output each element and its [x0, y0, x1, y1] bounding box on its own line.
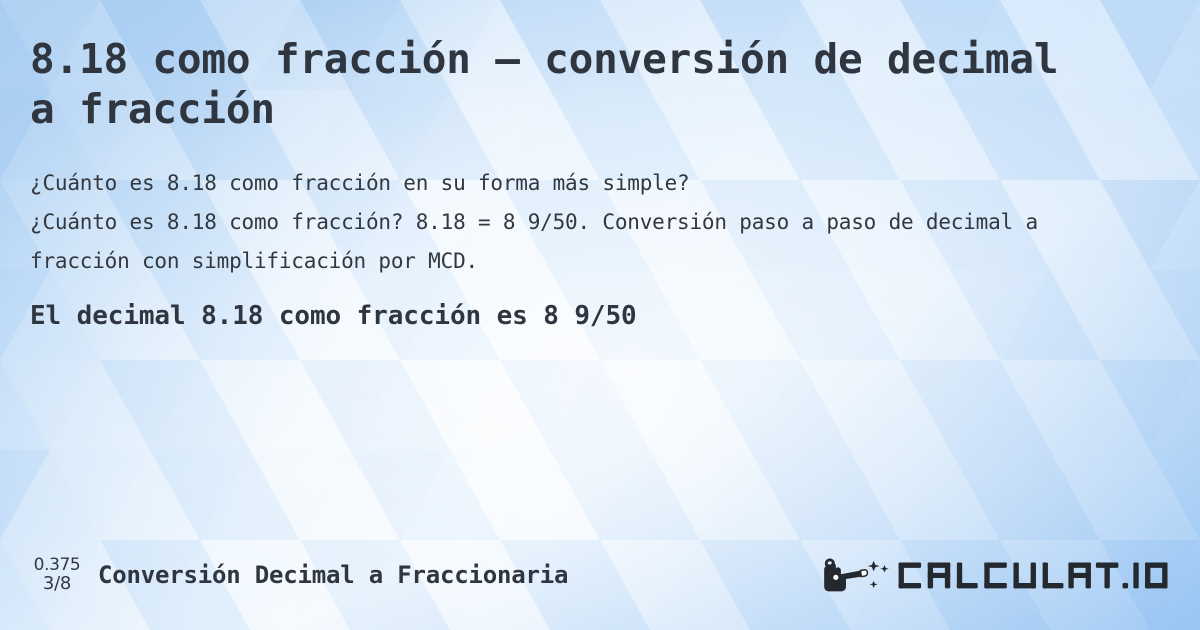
summary-block: ¿Cuánto es 8.18 como fracción en su form…: [30, 164, 1100, 281]
decimal-fraction-icon-fraction: 3/8: [43, 574, 71, 593]
magic-wand-hand-icon: [824, 559, 889, 592]
decimal-fraction-icon-decimal: 0.375: [34, 556, 81, 574]
result-statement: El decimal 8.18 como fracción es 8 9/50: [30, 299, 1170, 333]
decimal-fraction-icon: 0.375 3/8: [30, 556, 84, 594]
summary-answer: ¿Cuánto es 8.18 como fracción? 8.18 = 8 …: [30, 203, 1100, 281]
footer-tool-title: Conversión Decimal a Fraccionaria: [98, 561, 568, 589]
summary-question: ¿Cuánto es 8.18 como fracción en su form…: [30, 164, 1100, 203]
card-footer: 0.375 3/8 Conversión Decimal a Fracciona…: [0, 548, 1200, 602]
calculatio-wordmark: [899, 563, 1168, 589]
og-card: 8.18 como fracción – conversión de decim…: [0, 0, 1200, 630]
brand-group[interactable]: CALCULAT.IO: [822, 552, 1170, 598]
footer-left-group: 0.375 3/8 Conversión Decimal a Fracciona…: [30, 556, 568, 594]
calculatio-logo[interactable]: CALCULAT.IO: [822, 552, 1170, 598]
page-title: 8.18 como fracción – conversión de decim…: [30, 34, 1070, 134]
card-content: 8.18 como fracción – conversión de decim…: [0, 0, 1200, 630]
